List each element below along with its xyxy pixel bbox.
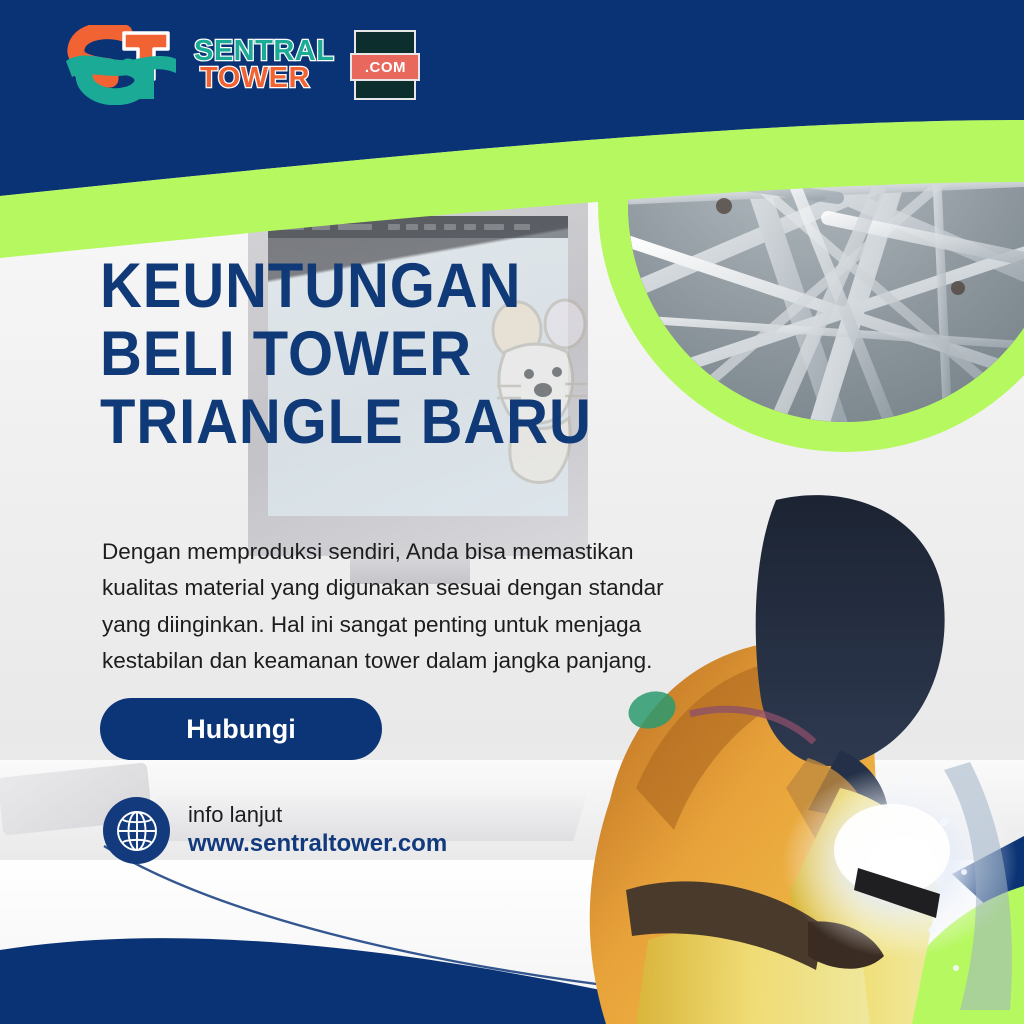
poster-canvas: SENTRAL TOWER .COM KEUNTUNGAN BELI TOWER…: [0, 0, 1024, 1024]
contact-info[interactable]: info lanjut www.sentraltower.com: [103, 797, 447, 864]
contact-label: info lanjut: [188, 802, 447, 829]
page-title: KEUNTUNGAN BELI TOWER TRIANGLE BARU: [100, 252, 597, 456]
brand-wordmark: SENTRAL TOWER: [194, 38, 334, 91]
dot-com-label: .COM: [350, 53, 420, 81]
dot-com-badge: .COM: [354, 30, 416, 100]
headline-line-1: KEUNTUNGAN: [100, 252, 597, 320]
globe-icon: [103, 797, 170, 864]
brand-word-sentral: SENTRAL: [194, 38, 334, 65]
headline-line-3: TRIANGLE BARU: [100, 388, 597, 456]
contact-button[interactable]: Hubungi: [100, 698, 382, 760]
st-monogram-icon: [62, 25, 180, 105]
body-paragraph: Dengan memproduksi sendiri, Anda bisa me…: [102, 534, 674, 680]
brand-word-tower: TOWER: [200, 65, 334, 92]
website-url[interactable]: www.sentraltower.com: [188, 829, 447, 858]
headline-line-2: BELI TOWER: [100, 320, 597, 388]
brand-logo[interactable]: SENTRAL TOWER .COM: [62, 24, 416, 106]
